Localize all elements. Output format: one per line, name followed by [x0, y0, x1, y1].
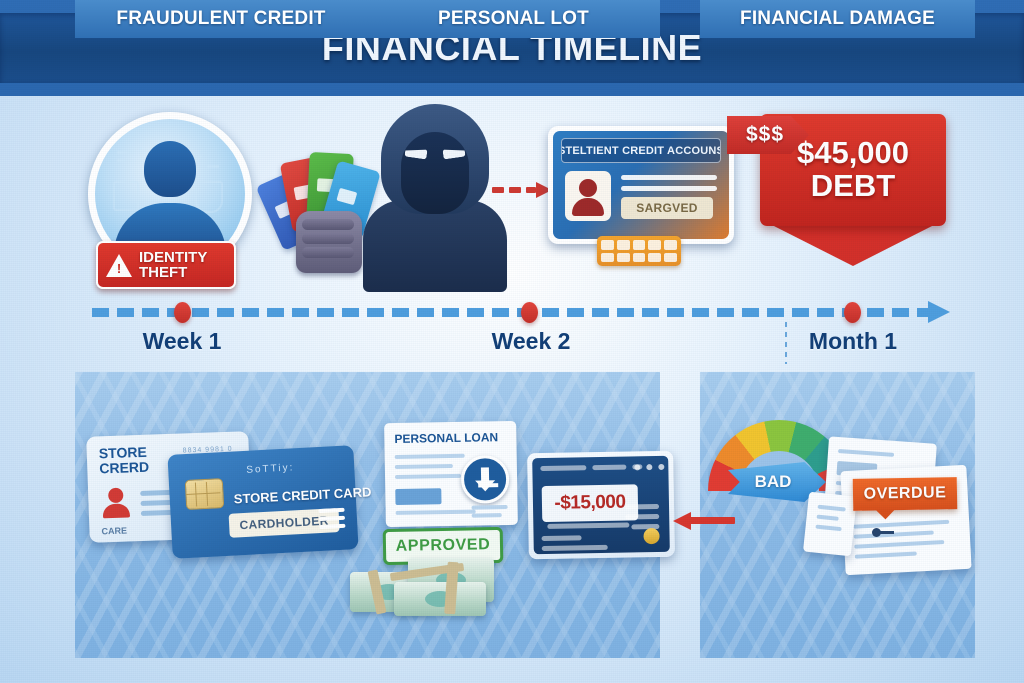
transaction-screen: -$15,000 — [527, 451, 675, 560]
identity-theft-badge: ! IDENTITY THEFT — [96, 241, 236, 289]
identity-theft-label: IDENTITY THEFT — [139, 250, 207, 281]
overdue-tag: OVERDUE — [853, 477, 958, 511]
timeline-marker-dot[interactable] — [844, 302, 861, 323]
gold-coin-icon — [643, 528, 659, 544]
debt-amount: $45,000 — [797, 137, 909, 170]
user-avatar-icon — [565, 171, 611, 221]
panel-heading-financial-damage: FINANCIAL DAMAGE — [700, 0, 975, 38]
transaction-amount: -$15,000 — [542, 484, 639, 522]
hooded-thief-figure — [355, 104, 515, 284]
timeline-arrowhead-icon — [928, 301, 950, 323]
accounts-status-chip: SARGVED — [621, 197, 713, 219]
panel-heading-personal-lot: PERSONAL LOT — [367, 0, 660, 38]
timeline-dashed-line — [92, 308, 930, 317]
timeline-label-week1: Week 1 — [143, 328, 222, 355]
red-flow-arrow — [492, 182, 552, 198]
red-left-arrow — [673, 512, 735, 530]
orange-keypad-icon — [597, 236, 681, 266]
accounts-detail-lines — [621, 175, 717, 197]
debt-label: DEBT — [811, 170, 895, 203]
timeline-scene: ! IDENTITY THEFT — [0, 96, 1024, 311]
key-icon — [872, 528, 894, 537]
infographic-canvas: FINANCIAL TIMELINE ! I — [0, 0, 1024, 683]
accounts-window-title: STELTIENT CREDIT ACCOUNS — [561, 138, 721, 163]
warning-triangle-icon: ! — [106, 254, 132, 277]
credit-accounts-window: STELTIENT CREDIT ACCOUNS SARGVED — [548, 126, 734, 244]
timeline-label-month1: Month 1 — [809, 328, 897, 355]
panel-heading-fraudulent-credit: FRAUDULENT CREDIT — [75, 0, 367, 38]
timeline-marker-dot[interactable] — [521, 302, 538, 323]
gloved-hand-icon — [296, 211, 362, 273]
warning-glyph: ! — [116, 262, 122, 275]
timeline-divider-tick — [785, 322, 787, 364]
timeline-label-week2: Week 2 — [492, 328, 571, 355]
overdue-document-side — [803, 492, 857, 557]
timeline-marker-dot[interactable] — [174, 302, 191, 323]
timeline-axis: Week 1 Week 2 Month 1 — [0, 300, 1024, 370]
